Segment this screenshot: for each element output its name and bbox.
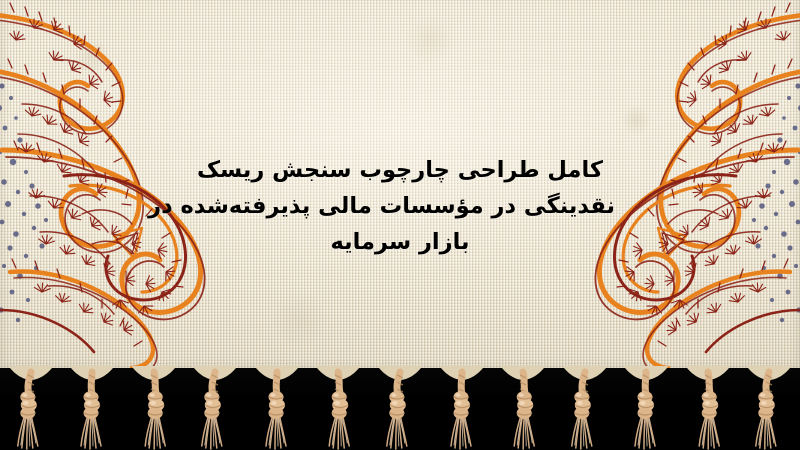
tassel: [70, 366, 114, 450]
tassel: [132, 366, 176, 450]
title-slide: کامل طراحی چارچوب سنجش ریسک نقدینگی در م…: [0, 0, 800, 450]
tassel: [747, 366, 791, 450]
tassel: [378, 366, 422, 450]
knotted-tassel-fringe: [0, 366, 800, 450]
tassel: [686, 366, 730, 450]
tassel: [624, 366, 668, 450]
tassel: [316, 366, 360, 450]
tassel: [563, 366, 607, 450]
tassel: [255, 366, 299, 450]
tassel: [193, 366, 237, 450]
tassel: [501, 366, 545, 450]
tassel: [9, 366, 53, 450]
tassel: [440, 366, 484, 450]
title-line-1: کامل طراحی چارچوب سنجش ریسک: [185, 152, 615, 188]
title-line-3: بازار سرمایه: [185, 224, 615, 260]
slide-title: کامل طراحی چارچوب سنجش ریسک نقدینگی در م…: [185, 152, 615, 260]
title-line-2: نقدینگی در مؤسسات مالی پذیرفته‌شده در: [185, 188, 615, 224]
